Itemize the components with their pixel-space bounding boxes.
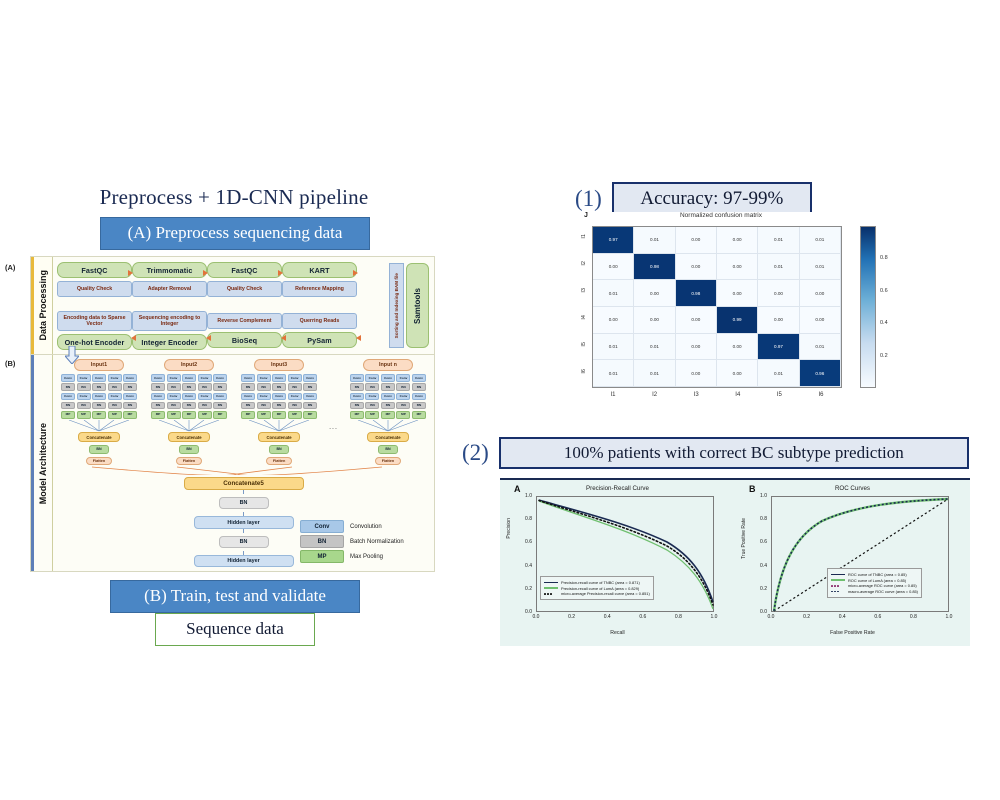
confusion-matrix-cell: 0.01 [800,334,841,361]
proc-cell: Sequencing encoding to Integer Integer E… [132,311,207,350]
confusion-matrix-cell: 0.00 [634,307,675,334]
panel-roc: B ROC Curves True Positive Rate False Po… [735,480,970,648]
x-axis-tick: 1.0 [941,614,957,620]
mp-layer: MP [151,411,165,419]
bn-layer: BN [108,383,122,391]
layer-column: Conv BN Conv BN MP [61,374,75,420]
branch-ellipsis: ... [329,394,338,431]
layer-column: Conv BN Conv BN MP [381,374,395,420]
conv-layer: Conv [198,393,212,401]
tool-name: FastQC [207,262,282,278]
connector-line [243,529,244,533]
conv-layer: Conv [61,374,75,382]
model-tail: Concatenate5 BN Hidden layer BN Hidden l… [184,477,304,567]
bn-layer: BN [198,402,212,410]
samtools-task: Sorting and Indexing BAM file [389,263,404,348]
bn-layer: BN [381,383,395,391]
confusion-matrix-corner-label: J [584,212,588,219]
confusion-matrix-cell: 0.00 [676,254,717,281]
cnn-branch: Input3 Conv BN Conv BN MP Conv [239,359,319,465]
tool-task: Encoding data to Sparse Vector [57,311,132,331]
confusion-matrix-y-tick: I5 [581,342,591,347]
mp-layer: MP [272,411,286,419]
confusion-matrix-cell: 0.00 [800,307,841,334]
panel-b-legend: ROC curve of TNBC (area = 0.85)ROC curve… [827,568,922,598]
tool-task: Reverse Complement [207,313,282,329]
tool-name: Integer Encoder [132,334,207,350]
bn-layer: BN [123,402,137,410]
proc-cell: Trimmomatic Adapter Removal [132,262,207,297]
branch-concatenate: Concatenate [258,432,300,442]
layer-column: Conv BN Conv BN MP [167,374,181,420]
confusion-matrix-cell: 0.01 [634,334,675,361]
banner-preprocess: (A) Preprocess sequencing data [100,217,370,250]
confusion-matrix-cell: 0.01 [758,227,799,254]
confusion-matrix-cell: 0.00 [717,254,758,281]
legend-chip-bn: BN [300,535,344,548]
branch-concatenate: Concatenate [78,432,120,442]
bn-layer: BN [92,402,106,410]
hidden-layer-node: Hidden layer [194,555,294,567]
y-axis-tick: 0.2 [749,586,767,592]
conv-layer: Conv [77,374,91,382]
conv-layer: Conv [303,393,317,401]
tool-task: Quality Check [207,281,282,297]
legend-item: micro-average ROC curve (area = 0.85) [831,583,918,588]
colorbar-tick: 0.4 [880,320,888,326]
tool-task: Reference Mapping [282,281,357,297]
bn-layer: BN [257,383,271,391]
branch-columns: Conv BN Conv BN MP Conv BN Conv BN [348,374,428,420]
confusion-matrix-cell: 0.01 [593,360,634,387]
confusion-matrix-cell: 0.01 [634,360,675,387]
confusion-matrix-cell: 0.00 [758,307,799,334]
mp-layer: MP [303,411,317,419]
merge-lines-icon [348,420,428,432]
mp-layer: MP [167,411,181,419]
y-axis-tick: 0.6 [514,539,532,545]
conv-layer: Conv [213,374,227,382]
tool-task: Sequencing encoding to Integer [132,311,207,331]
legend-label: micro-average Precision-recall curve (ar… [561,591,650,596]
confusion-matrix-cell: 0.01 [800,227,841,254]
confusion-matrix-cell: 0.99 [717,307,758,334]
confusion-matrix-cell: 0.00 [593,254,634,281]
confusion-matrix-cell: 0.00 [800,280,841,307]
bn-layer: BN [288,383,302,391]
bn-layer: BN [167,383,181,391]
confusion-matrix-cell: 0.00 [717,280,758,307]
conv-layer: Conv [123,393,137,401]
tool-name: Trimmomatic [132,262,207,278]
conv-layer: Conv [198,374,212,382]
conv-layer: Conv [241,393,255,401]
x-axis-tick: 0.4 [599,614,615,620]
figure-canvas: Preprocess + 1D-CNN pipeline (A) Preproc… [0,0,1000,800]
proc-cell: Querring Reads PySam [282,313,357,348]
section-b-model-architecture: (B) Model Architecture Input1 Conv BN [31,355,434,571]
confusion-matrix-x-tick: I1 [603,392,623,398]
legend-key [544,591,558,596]
colorbar-tick: 0.6 [880,288,888,294]
legend-key [831,578,845,583]
confusion-matrix-cell: 0.00 [676,227,717,254]
panel-a-ylabel: Precision [506,518,512,539]
legend-key [831,589,845,594]
confusion-matrix-cell: 0.00 [634,280,675,307]
callout-accuracy: (1) Accuracy: 97-99% [575,182,812,215]
layer-column: Conv BN Conv BN MP [303,374,317,420]
branch-input-label: Input2 [164,359,214,371]
y-axis-tick: 0.6 [749,539,767,545]
mp-layer: MP [182,411,196,419]
confusion-matrix-cell: 0.98 [634,254,675,281]
branch-concatenate: Concatenate [367,432,409,442]
page-title: Preprocess + 1D-CNN pipeline [34,185,434,210]
x-axis-tick: 0.2 [564,614,580,620]
conv-layer: Conv [123,374,137,382]
bn-layer: BN [412,383,426,391]
confusion-matrix-x-tick: I6 [811,392,831,398]
legend-chip-conv: Conv [300,520,344,533]
mp-layer: MP [77,411,91,419]
bn-layer: BN [61,402,75,410]
confusion-matrix-grid: 0.970.010.000.000.010.010.000.980.000.00… [592,226,842,388]
layer-column: Conv BN Conv BN MP [123,374,137,420]
conv-layer: Conv [108,393,122,401]
branch-bn: BN [269,445,289,454]
mp-layer: MP [108,411,122,419]
branch-input-label: Input n [363,359,413,371]
bn-layer: BN [257,402,271,410]
cnn-branches: Input1 Conv BN Conv BN MP Conv [57,359,430,465]
section-b-tag: (B) [5,359,15,368]
conv-layer: Conv [167,374,181,382]
layer-column: Conv BN Conv BN MP [198,374,212,420]
mp-layer: MP [412,411,426,419]
branch-bn: BN [378,445,398,454]
samtools-label: Samtools [413,288,422,324]
bn-layer: BN [61,383,75,391]
conv-layer: Conv [241,374,255,382]
cnn-branch: Input1 Conv BN Conv BN MP Conv [59,359,139,465]
panel-b-ylabel: True Positive Rate [741,518,747,559]
bn-layer: BN [241,402,255,410]
proc-cell: FastQC Quality Check [207,262,282,297]
layer-column: Conv BN Conv BN MP [108,374,122,420]
panel-a-legend: Precision-recall curve of TNBC (area = 0… [540,576,654,600]
conv-layer: Conv [272,393,286,401]
mp-layer: MP [381,411,395,419]
mp-layer: MP [257,411,271,419]
conv-layer: Conv [365,393,379,401]
legend-item: MP Max Pooling [300,550,428,563]
tool-name: KART [282,262,357,278]
conv-layer: Conv [77,393,91,401]
curves-figure: A Precision-Recall Curve Precision Recal… [500,478,970,646]
tail-bn-node: BN [219,497,269,509]
mp-layer: MP [288,411,302,419]
conv-layer: Conv [350,393,364,401]
section-a-tag: (A) [5,263,15,272]
conv-layer: Conv [257,393,271,401]
conv-layer: Conv [213,393,227,401]
branch-concatenate: Concatenate [168,432,210,442]
conv-layer: Conv [182,393,196,401]
panel-precision-recall: A Precision-Recall Curve Precision Recal… [500,480,735,648]
layer-column: Conv BN Conv BN MP [412,374,426,420]
conv-layer: Conv [151,374,165,382]
layer-column: Conv BN Conv BN MP [396,374,410,420]
bn-layer: BN [412,402,426,410]
conv-layer: Conv [61,393,75,401]
confusion-matrix-cell: 0.00 [758,280,799,307]
conv-layer: Conv [151,393,165,401]
concatenate5-node: Concatenate5 [184,477,304,490]
y-axis-tick: 0.2 [514,586,532,592]
conv-layer: Conv [396,374,410,382]
branch-columns: Conv BN Conv BN MP Conv BN Conv BN [149,374,229,420]
layer-column: Conv BN Conv BN MP [288,374,302,420]
mp-layer: MP [198,411,212,419]
cnn-branch: Input n Conv BN Conv BN MP Conv [348,359,428,465]
banner-train-test-validate: (B) Train, test and validate [110,580,360,613]
y-axis-tick: 1.0 [749,493,767,499]
tail-bn-node: BN [219,536,269,548]
confusion-matrix-cell: 0.01 [634,227,675,254]
bn-layer: BN [213,402,227,410]
confusion-matrix-cell: 0.00 [676,360,717,387]
sidebar-label-data-processing: Data Processing [38,270,48,341]
confusion-matrix-x-tick: I5 [769,392,789,398]
tool-name: BioSeq [207,332,282,348]
colorbar-tick: 0.2 [880,353,888,359]
x-axis-tick: 1.0 [706,614,722,620]
merge-lines-icon [239,420,319,432]
confusion-matrix-cell: 0.01 [758,360,799,387]
bn-layer: BN [182,383,196,391]
left-pipeline-panel: Preprocess + 1D-CNN pipeline (A) Preproc… [30,185,440,646]
x-axis-tick: 0.8 [670,614,686,620]
confusion-matrix-x-tick: I4 [728,392,748,398]
x-axis-tick: 0.8 [905,614,921,620]
samtools-tool: Samtools [406,263,429,348]
confusion-matrix-title: Normalized confusion matrix [586,212,856,219]
callout-2-number: (2) [462,440,489,466]
legend-label-mp: Max Pooling [350,554,383,560]
legend-label: Precision-recall curve of LumA (area = 0… [561,586,639,591]
legend-key [544,580,558,585]
legend-item: Precision-recall curve of TNBC (area = 0… [544,580,650,585]
confusion-matrix-cell: 0.96 [800,360,841,387]
confusion-matrix-cell: 0.00 [717,334,758,361]
branch-input-label: Input3 [254,359,304,371]
legend-key [831,572,845,577]
bn-layer: BN [182,402,196,410]
tool-task: Quality Check [57,281,132,297]
conv-layer: Conv [412,393,426,401]
bn-layer: BN [396,383,410,391]
branch-columns: Conv BN Conv BN MP Conv BN Conv BN [239,374,319,420]
layer-column: Conv BN Conv BN MP [151,374,165,420]
pipeline-figure: (A) Data Processing FastQC Quality Check… [30,256,435,572]
legend-chip-mp: MP [300,550,344,563]
legend-item: micro-average Precision-recall curve (ar… [544,591,650,596]
legend-key [544,586,558,591]
y-axis-tick: 0.8 [749,516,767,522]
callout-1-box: Accuracy: 97-99% [612,182,812,215]
confusion-matrix-y-tick: I2 [581,261,591,266]
layer-column: Conv BN Conv BN MP [92,374,106,420]
mp-layer: MP [241,411,255,419]
layer-column: Conv BN Conv BN MP [182,374,196,420]
x-axis-tick: 0.6 [870,614,886,620]
bn-layer: BN [123,383,137,391]
bn-layer: BN [381,402,395,410]
mp-layer: MP [396,411,410,419]
proc-cell: KART Reference Mapping [282,262,357,297]
tool-task: Adapter Removal [132,281,207,297]
legend-label: micro-average ROC curve (area = 0.85) [848,583,917,588]
bn-layer: BN [77,402,91,410]
bn-layer: BN [272,383,286,391]
bn-layer: BN [151,402,165,410]
conv-layer: Conv [272,374,286,382]
x-axis-tick: 0.4 [834,614,850,620]
y-axis-tick: 0.0 [514,609,532,615]
tool-task: Querring Reads [282,313,357,329]
confusion-matrix-y-tick: I6 [581,369,591,374]
bn-layer: BN [92,383,106,391]
mp-layer: MP [213,411,227,419]
hidden-layer-node: Hidden layer [194,516,294,528]
branch-flatten: Flatten [86,457,112,466]
legend-item: Conv Convolution [300,520,428,533]
confusion-matrix-y-tick: I4 [581,315,591,320]
conv-layer: Conv [288,393,302,401]
confusion-matrix-cell: 0.00 [676,307,717,334]
confusion-matrix-y-tick: I3 [581,288,591,293]
bn-layer: BN [396,402,410,410]
conv-layer: Conv [108,374,122,382]
legend-item: ROC curve of LumA (area = 0.85) [831,578,918,583]
sidebar-label-model-architecture: Model Architecture [38,423,48,504]
layer-column: Conv BN Conv BN MP [257,374,271,420]
samtools-task-label: Sorting and Indexing BAM file [394,273,399,338]
conv-layer: Conv [288,374,302,382]
legend-label-bn: Batch Normalization [350,539,404,545]
colorbar-tick: 0.8 [880,255,888,261]
panel-b-xlabel: False Positive Rate [735,630,970,636]
legend-item: ROC curve of TNBC (area = 0.85) [831,572,918,577]
panel-b-title: ROC Curves [735,485,970,492]
conv-layer: Conv [257,374,271,382]
bn-layer: BN [151,383,165,391]
connector-line [243,490,244,494]
bn-layer: BN [167,402,181,410]
legend-label-conv: Convolution [350,524,382,530]
confusion-matrix-cell: 0.00 [717,360,758,387]
proc-cell: Encoding data to Sparse Vector One-hot E… [57,311,132,350]
cnn-branch: Input2 Conv BN Conv BN MP Conv [149,359,229,465]
confusion-matrix-cell: 0.97 [593,227,634,254]
merge-lines-icon [149,420,229,432]
confusion-matrix-cell: 0.97 [758,334,799,361]
bn-layer: BN [303,402,317,410]
branch-bn: BN [179,445,199,454]
callout-1-number: (1) [575,186,602,212]
global-merge-icon [57,465,430,475]
branch-flatten: Flatten [266,457,292,466]
confusion-matrix-cell: 0.01 [593,280,634,307]
y-axis-tick: 0.0 [749,609,767,615]
y-axis-tick: 1.0 [514,493,532,499]
bn-layer: BN [365,383,379,391]
bn-layer: BN [198,383,212,391]
branch-columns: Conv BN Conv BN MP Conv BN Conv BN [59,374,139,420]
layer-column: Conv BN Conv BN MP [77,374,91,420]
legend-label: Precision-recall curve of TNBC (area = 0… [561,580,640,585]
confusion-matrix-cell: 0.00 [717,227,758,254]
panel-a-xlabel: Recall [500,630,735,636]
bn-layer: BN [108,402,122,410]
proc-cell: Reverse Complement BioSeq [207,313,282,348]
layer-column: Conv BN Conv BN MP [365,374,379,420]
layer-column: Conv BN Conv BN MP [272,374,286,420]
legend-label: ROC curve of TNBC (area = 0.85) [848,572,907,577]
conv-layer: Conv [92,374,106,382]
layer-column: Conv BN Conv BN MP [213,374,227,420]
confusion-matrix-cell: 0.01 [758,254,799,281]
conv-layer: Conv [381,374,395,382]
bn-layer: BN [303,383,317,391]
bn-layer: BN [241,383,255,391]
mp-layer: MP [61,411,75,419]
section-a-data-processing: (A) Data Processing FastQC Quality Check… [31,257,434,354]
callout-2-box: 100% patients with correct BC subtype pr… [499,437,969,469]
legend-item: macro-average ROC curve (area = 0.85) [831,589,918,594]
mp-layer: MP [350,411,364,419]
mp-layer: MP [365,411,379,419]
confusion-matrix-x-tick: I3 [686,392,706,398]
confusion-matrix-cell: 0.01 [593,334,634,361]
conv-layer: Conv [396,393,410,401]
confusion-matrix-cell: 0.01 [800,254,841,281]
branch-flatten: Flatten [375,457,401,466]
bn-layer: BN [288,402,302,410]
merge-lines-icon [59,420,139,432]
confusion-matrix-cell: 0.98 [676,280,717,307]
conv-layer: Conv [303,374,317,382]
colorbar [860,226,876,388]
layer-column: Conv BN Conv BN MP [241,374,255,420]
bn-layer: BN [77,383,91,391]
pipeline-down-arrow-icon [65,346,79,369]
branch-bn: BN [89,445,109,454]
conv-layer: Conv [381,393,395,401]
confusion-matrix-cell: 0.00 [676,334,717,361]
sequence-data-box: Sequence data [155,613,315,646]
bn-layer: BN [365,402,379,410]
layer-column: Conv BN Conv BN MP [350,374,364,420]
bn-layer: BN [350,402,364,410]
legend-label: ROC curve of LumA (area = 0.85) [848,578,906,583]
sidebar-model-architecture: Model Architecture [31,355,53,571]
confusion-matrix-y-tick: I1 [581,234,591,239]
architecture-legend: Conv Convolution BN Batch Normalization … [300,520,428,565]
conv-layer: Conv [167,393,181,401]
samtools-group: Sorting and Indexing BAM file Samtools [389,263,429,348]
